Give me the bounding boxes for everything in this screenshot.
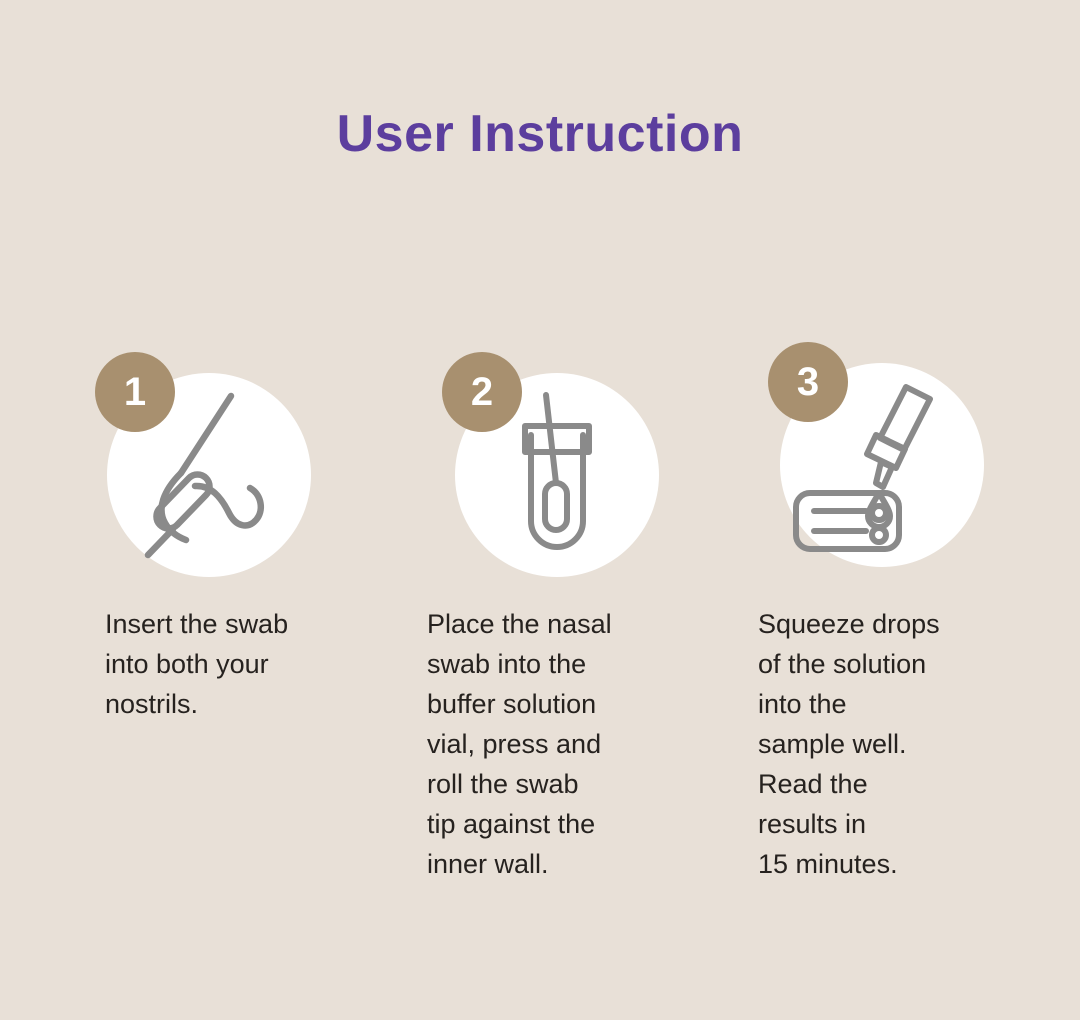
step-item-1: 1: [95, 352, 405, 592]
page-title: User Instruction: [0, 105, 1080, 165]
step-3-caption: Squeeze drops of the solution into the s…: [758, 604, 1020, 884]
step-2-number-badge: 2: [442, 352, 522, 432]
steps-row: 1: [0, 352, 1080, 952]
step-item-2: 2 Place the nasal swab into the buffer s…: [420, 352, 730, 592]
step-1-caption: Insert the swab into both your nostrils.: [105, 604, 365, 724]
step-3-icon-cluster: 3: [750, 342, 1010, 582]
step-2-icon-cluster: 2: [420, 352, 680, 592]
step-1-icon-cluster: 1: [95, 352, 355, 592]
step-2-caption: Place the nasal swab into the buffer sol…: [427, 604, 689, 884]
instruction-poster: User Instruction 1: [0, 0, 1080, 1020]
step-item-3: 3: [750, 352, 1060, 582]
step-1-number-badge: 1: [95, 352, 175, 432]
step-3-number-badge: 3: [768, 342, 848, 422]
